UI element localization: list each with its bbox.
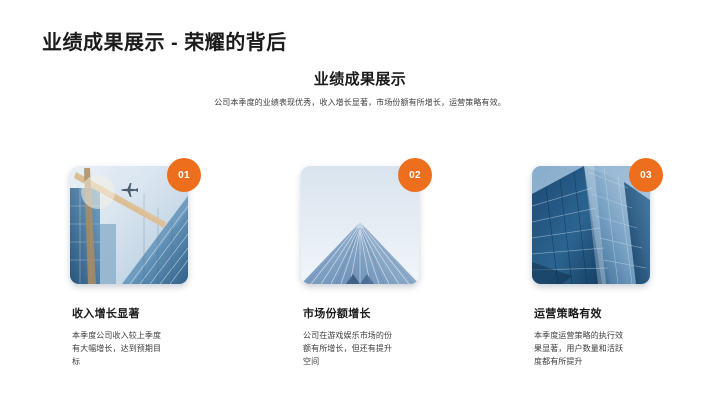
card-media: 02 bbox=[301, 166, 419, 284]
page-title: 业绩成果展示 - 荣耀的背后 bbox=[42, 26, 287, 55]
card-item[interactable]: 03 运营策略有效 本季度运营策略的执行效果显著，用户数量和活跃度都有所提升 bbox=[532, 166, 650, 284]
slide-canvas: 业绩成果展示 - 荣耀的背后 业绩成果展示 公司本季度的业绩表现优秀，收入增长显… bbox=[0, 0, 720, 404]
card-heading: 市场份额增长 bbox=[303, 305, 431, 321]
card-item[interactable]: 01 收入增长显著 本季度公司收入较上季度有大幅增长，达到预期目标 bbox=[70, 166, 188, 284]
card-media: 01 bbox=[70, 166, 188, 284]
card-item[interactable]: 02 市场份额增长 公司在游戏娱乐市场的份额有所增长，但还有提升空间 bbox=[301, 166, 419, 284]
card-badge-number: 02 bbox=[398, 158, 432, 192]
card-text: 本季度公司收入较上季度有大幅增长，达到预期目标 bbox=[72, 330, 168, 369]
card-body: 运营策略有效 本季度运营策略的执行效果显著，用户数量和活跃度都有所提升 bbox=[534, 305, 662, 369]
card-body: 市场份额增长 公司在游戏娱乐市场的份额有所增长，但还有提升空间 bbox=[303, 305, 431, 369]
card-body: 收入增长显著 本季度公司收入较上季度有大幅增长，达到预期目标 bbox=[72, 305, 200, 369]
section-heading: 业绩成果展示 bbox=[0, 68, 720, 89]
section-description: 公司本季度的业绩表现优秀，收入增长显著，市场份额有所增长，运营策略有效。 bbox=[0, 97, 720, 108]
card-heading: 运营策略有效 bbox=[534, 305, 662, 321]
card-badge-number: 01 bbox=[167, 158, 201, 192]
card-badge-number: 03 bbox=[629, 158, 663, 192]
card-heading: 收入增长显著 bbox=[72, 305, 200, 321]
cards-row: 01 收入增长显著 本季度公司收入较上季度有大幅增长，达到预期目标 bbox=[70, 166, 650, 284]
card-text: 公司在游戏娱乐市场的份额有所增长，但还有提升空间 bbox=[303, 330, 399, 369]
card-media: 03 bbox=[532, 166, 650, 284]
card-text: 本季度运营策略的执行效果显著，用户数量和活跃度都有所提升 bbox=[534, 330, 630, 369]
